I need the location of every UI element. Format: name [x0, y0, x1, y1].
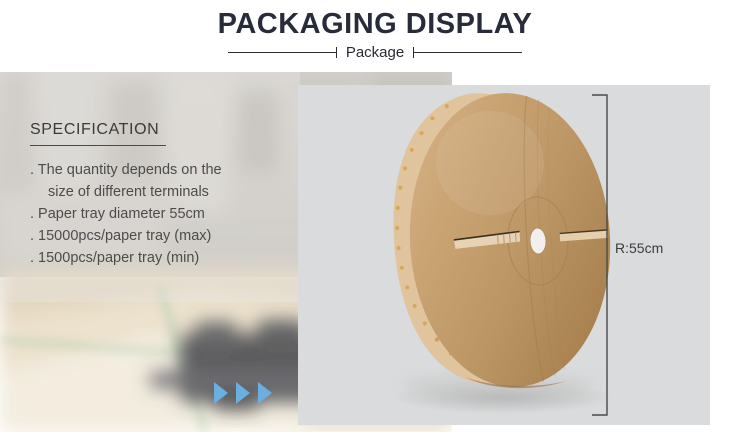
- dimension-label: R:55cm: [615, 241, 663, 255]
- divider-line-left: [228, 52, 336, 53]
- specification-block: SPECIFICATION . The quantity depends on …: [30, 120, 300, 269]
- specification-item-0: . The quantity depends on the: [30, 159, 300, 181]
- specification-item-2: . Paper tray diameter 55cm: [30, 203, 300, 225]
- specification-item-3: . 15000pcs/paper tray (max): [30, 225, 300, 247]
- subtitle-label: Package: [337, 45, 413, 60]
- specification-heading: SPECIFICATION: [30, 120, 300, 139]
- triangle-right-icon: [258, 382, 272, 404]
- triangle-right-icon: [214, 382, 228, 404]
- packaging-display-banner: PACKAGING DISPLAY Package: [0, 0, 750, 445]
- divider-line-right: [414, 52, 522, 53]
- specification-item-4: . 1500pcs/paper tray (min): [30, 247, 300, 269]
- subtitle-divider: Package: [0, 45, 750, 60]
- specification-underline: [30, 145, 166, 146]
- dimension-bracket: [590, 94, 610, 416]
- arrow-decoration-group: [214, 382, 272, 404]
- specification-item-1: size of different terminals: [30, 181, 300, 203]
- triangle-right-icon: [236, 382, 250, 404]
- page-title: PACKAGING DISPLAY: [0, 9, 750, 39]
